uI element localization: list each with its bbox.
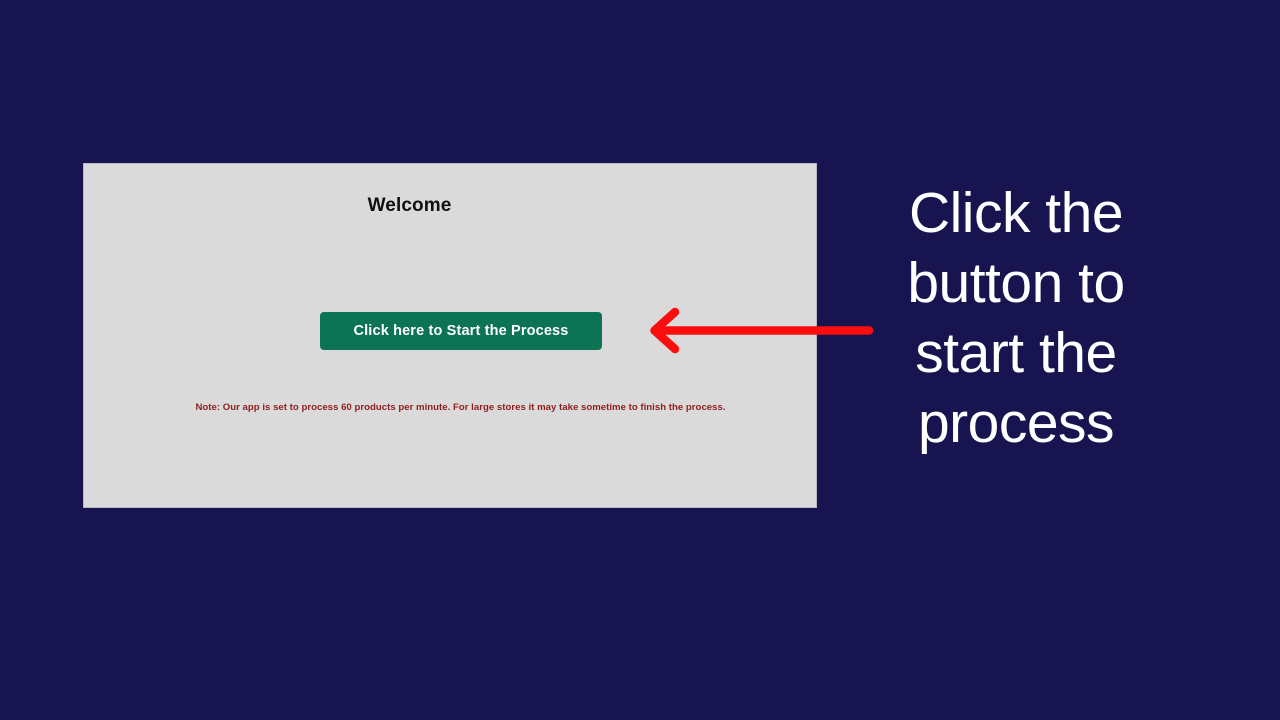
app-panel: Welcome Click here to Start the Process …	[83, 163, 817, 508]
start-process-button[interactable]: Click here to Start the Process	[320, 312, 602, 350]
process-rate-note: Note: Our app is set to process 60 produ…	[84, 402, 837, 413]
caption-line-4: process	[876, 388, 1156, 458]
page-title: Welcome	[84, 195, 735, 217]
caption-line-2: button to	[876, 248, 1156, 318]
screenshot-canvas: Welcome Click here to Start the Process …	[0, 0, 1280, 720]
annotation-caption: Click the button to start the process	[876, 178, 1156, 458]
caption-line-1: Click the	[876, 178, 1156, 248]
caption-line-3: start the	[876, 318, 1156, 388]
